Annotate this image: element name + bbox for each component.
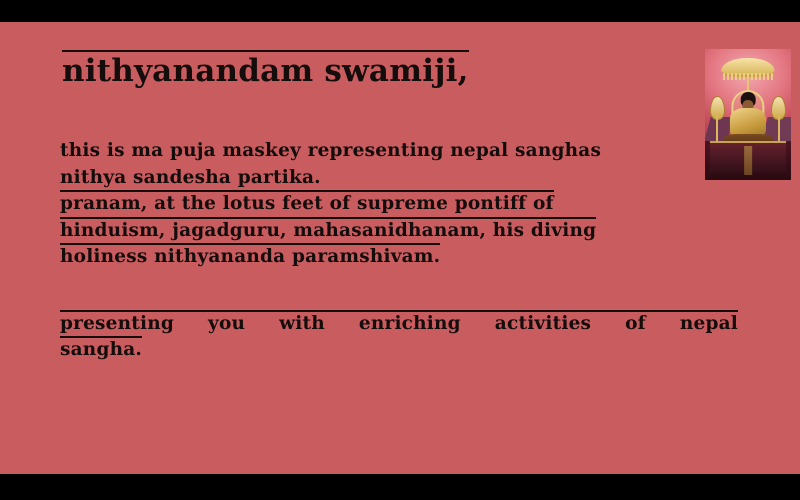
line-text: sangha. [60,336,142,360]
text-line: nithya sandesha partika. [60,165,740,192]
line-text: presenting you with enriching activities… [60,310,738,334]
line-text: pranam, at the lotus feet of supreme pon… [60,190,554,214]
slide-heading: nithyanandam swamiji, [62,52,740,90]
paragraph-closing: presenting you with enriching activities… [60,311,738,364]
figure-cloth-drape [744,146,752,175]
slide-text-block: nithyanandam swamiji, this is ma puja ma… [60,52,740,364]
text-line: hinduism, jagadguru, mahasanidhanam, his… [60,218,740,245]
line-text: this is ma puja maskey representing nepa… [60,140,601,161]
throne-staff-right [778,115,780,141]
letterbox-bar-bottom [0,474,800,500]
paragraph-salutation: pranam, at the lotus feet of supreme pon… [60,191,740,271]
slide-canvas: nithyanandam swamiji, this is ma puja ma… [0,22,800,474]
throne-staff-left [716,115,718,141]
line-text: nithya sandesha partika. [60,167,321,188]
paragraph-intro: this is ma puja maskey representing nepa… [60,138,740,191]
line-text: hinduism, jagadguru, mahasanidhanam, his… [60,217,596,241]
text-line: this is ma puja maskey representing nepa… [60,138,740,165]
text-line: sangha. [60,337,738,364]
text-line: presenting you with enriching activities… [60,311,738,338]
slide-stage: nithyanandam swamiji, this is ma puja ma… [0,0,800,500]
swamiji-on-golden-throne-photo [705,49,791,180]
heading-text: nithyanandam swamiji, [62,50,469,89]
text-line: holiness nithyananda paramshivam. [60,244,740,271]
line-text: holiness nithyananda paramshivam. [60,243,440,267]
letterbox-bar-top [0,0,800,22]
text-line: pranam, at the lotus feet of supreme pon… [60,191,740,218]
